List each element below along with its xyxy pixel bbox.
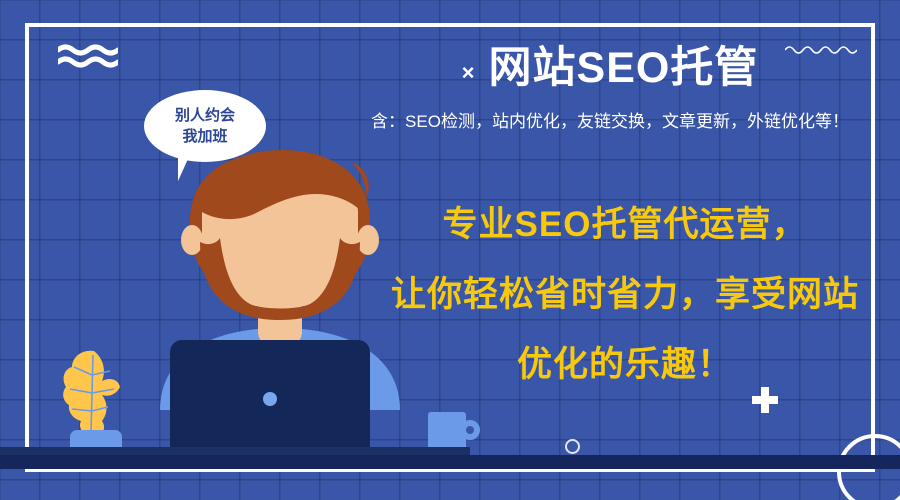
laptop-illustration [170, 340, 370, 458]
slogan-line-1: 专业SEO托管代运营， [355, 190, 895, 260]
page-subtitle: 含：SEO检测，站内优化，友链交换，文章更新，外链优化等！ [330, 107, 890, 132]
laptop-logo-icon [263, 392, 277, 406]
page-title: 网站SEO托管 [489, 46, 759, 91]
plant-illustration [58, 345, 128, 457]
headline-block: × 网站SEO托管 含：SEO检测，站内优化，友链交换，文章更新，外链优化等！ [330, 46, 890, 132]
slogan-block: 专业SEO托管代运营， 让你轻松省时省力，享受网站 优化的乐趣！ [355, 190, 895, 400]
seo-hosting-banner: 别人约会 我加班 × 网站SEO托管 含：SEO检测，站内优化，友链交换，文章更… [0, 0, 900, 500]
cross-mark-icon: × [462, 62, 475, 84]
speech-bubble: 别人约会 我加班 [144, 90, 266, 162]
slogan-line-2: 让你轻松省时省力，享受网站 [355, 260, 895, 330]
speech-bubble-line-1: 别人约会 [175, 105, 235, 126]
wave-lines-thick-icon [58, 44, 118, 68]
speech-bubble-line-2: 我加班 [182, 126, 227, 147]
slogan-line-3: 优化的乐趣！ [355, 330, 895, 400]
desk-surface [0, 455, 900, 469]
circle-outline-icon [565, 439, 580, 454]
title-row: × 网站SEO托管 [330, 46, 890, 91]
